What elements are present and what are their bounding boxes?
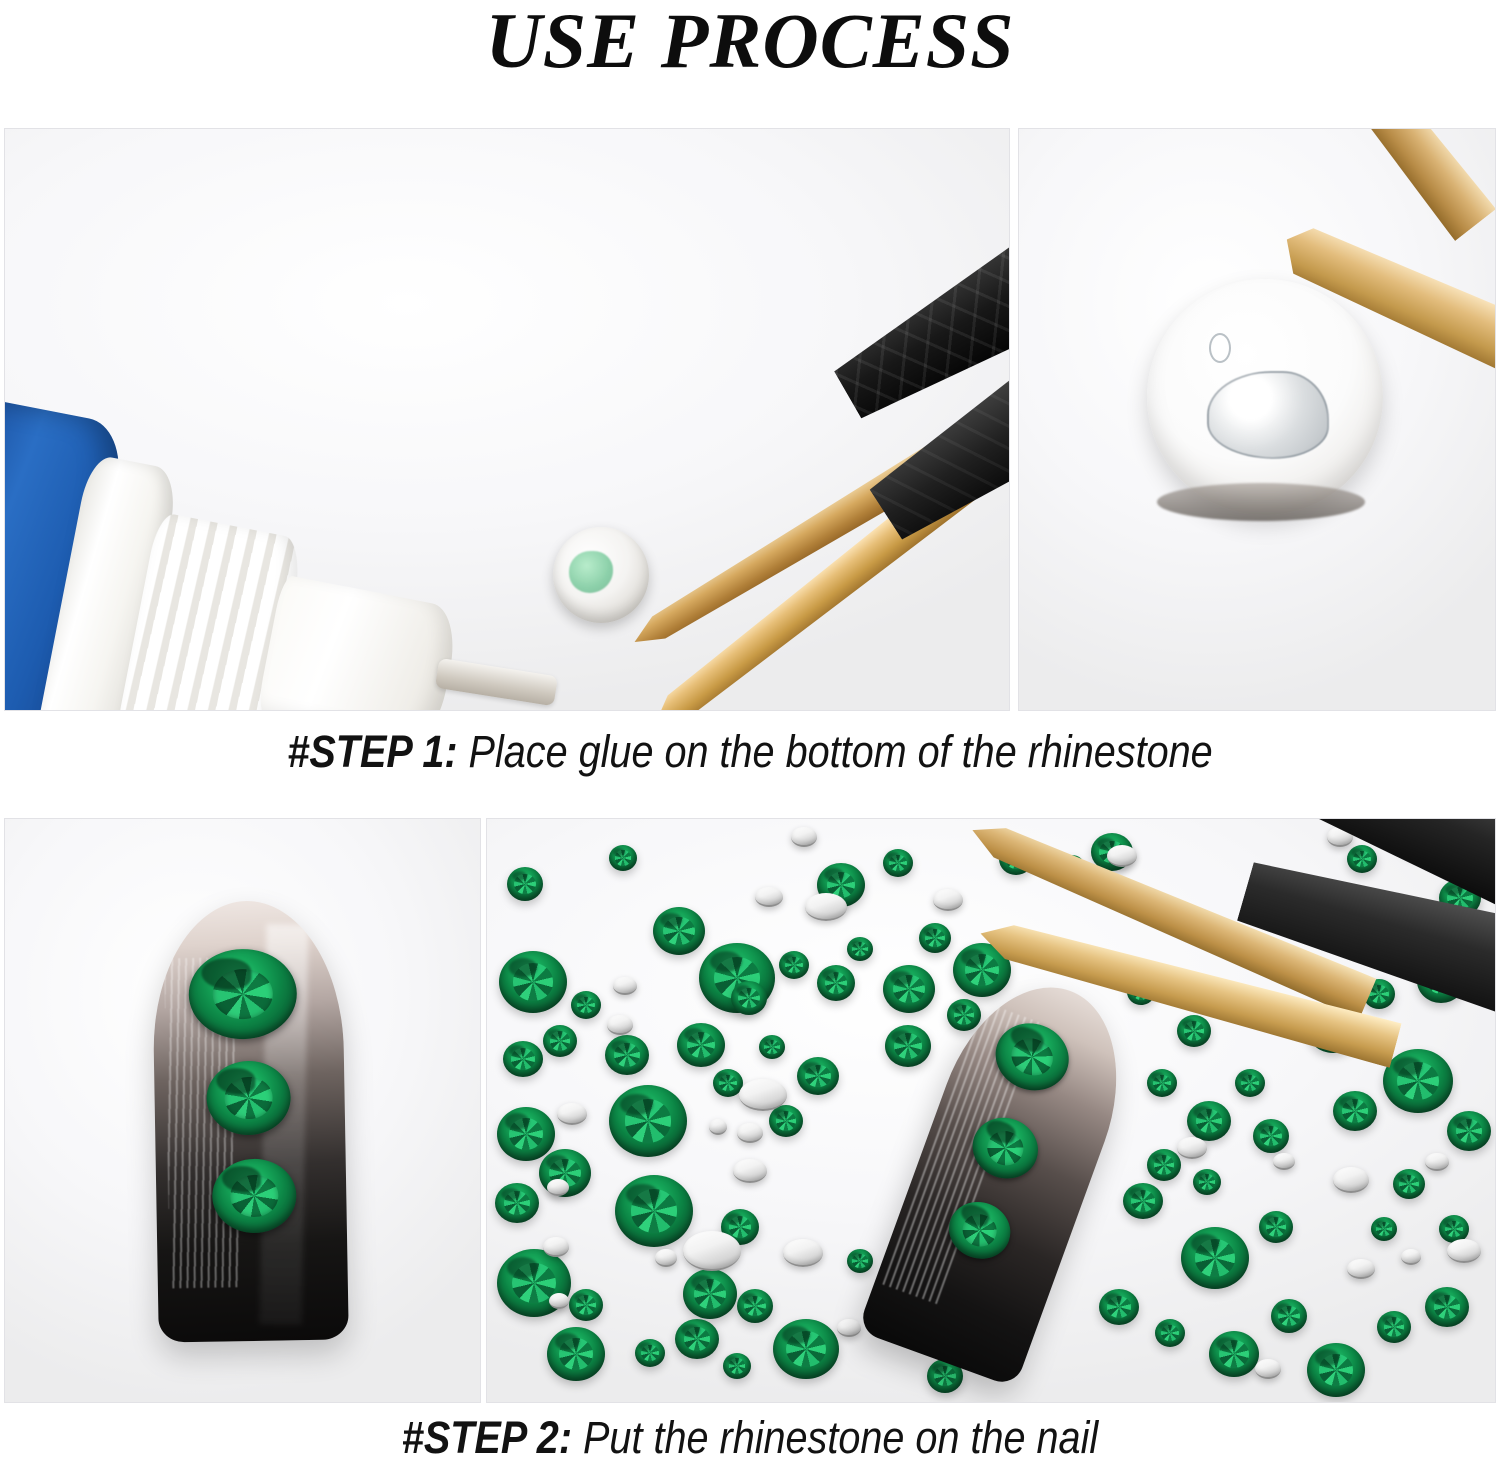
loose-rhinestone	[883, 965, 935, 1013]
loose-rhinestone	[1377, 1311, 1411, 1343]
step-1-text: Place glue on the bottom of the rhinesto…	[458, 726, 1213, 777]
loose-rhinestone	[797, 1057, 839, 1095]
flat-back-stone	[739, 1079, 787, 1111]
flat-back-stone	[547, 1179, 569, 1196]
flat-back-stone	[1255, 1359, 1281, 1379]
loose-rhinestone	[605, 1035, 649, 1075]
flat-back-stone	[805, 893, 847, 921]
loose-rhinestone	[653, 907, 705, 955]
flat-back-stone	[557, 1103, 587, 1125]
glue-drop	[569, 551, 613, 593]
loose-rhinestone	[609, 845, 637, 871]
step-2-text: Put the rhinestone on the nail	[572, 1412, 1098, 1463]
step-1-panel-row	[4, 128, 1496, 711]
loose-rhinestone	[1383, 1049, 1453, 1113]
flat-back-stone	[543, 1237, 569, 1257]
glue-bubble	[1209, 333, 1231, 363]
loose-rhinestone	[543, 1025, 577, 1057]
flat-back-stone	[709, 1119, 727, 1135]
loose-rhinestone	[675, 1319, 719, 1359]
loose-rhinestone	[883, 849, 913, 877]
loose-rhinestone	[497, 1107, 555, 1161]
loose-rhinestone	[495, 1183, 539, 1223]
nail-rhinestone-small	[941, 1193, 1018, 1267]
nail-rhinestone-medium	[206, 1060, 291, 1135]
loose-rhinestone	[615, 1175, 693, 1247]
loose-rhinestone	[635, 1339, 665, 1367]
panel-gutter	[1010, 128, 1018, 711]
flat-back-stone	[613, 977, 637, 995]
page-title: USE PROCESS	[0, 0, 1500, 110]
loose-rhinestone	[773, 1319, 839, 1379]
loose-rhinestone	[1147, 1149, 1181, 1181]
rhinestone-silver-back	[553, 527, 649, 623]
loose-rhinestone	[919, 923, 951, 953]
loose-rhinestone	[1123, 1183, 1163, 1219]
loose-rhinestone	[1371, 1217, 1397, 1241]
loose-rhinestone	[547, 1327, 605, 1381]
loose-rhinestone	[769, 1105, 803, 1137]
loose-rhinestone	[1307, 1343, 1365, 1397]
step-2-caption: #STEP 2: Put the rhinestone on the nail	[90, 1412, 1410, 1464]
loose-rhinestone	[1187, 1101, 1231, 1141]
flat-back-stone	[1347, 1259, 1375, 1279]
step-1-label: #STEP 1:	[287, 726, 457, 777]
flat-back-stone	[1107, 845, 1137, 867]
flat-back-stone	[683, 1231, 741, 1271]
loose-rhinestone	[759, 1035, 785, 1059]
loose-rhinestone	[1393, 1169, 1425, 1199]
loose-rhinestone	[737, 1289, 773, 1323]
loose-rhinestone	[723, 1353, 751, 1379]
loose-rhinestone	[569, 1289, 603, 1321]
loose-rhinestone	[779, 951, 809, 979]
panel-glue-bottle	[4, 128, 1010, 711]
loose-rhinestone	[1447, 1111, 1491, 1151]
loose-rhinestone	[1193, 1169, 1221, 1195]
panel-stone-closeup	[1018, 128, 1496, 711]
rhinestone-flat-back-macro	[1147, 279, 1383, 515]
loose-rhinestone	[817, 965, 855, 1001]
flat-back-stone	[607, 1015, 633, 1035]
loose-rhinestone	[1147, 1069, 1177, 1097]
decorated-nail	[151, 899, 349, 1342]
step-2-label: #STEP 2:	[402, 1412, 572, 1463]
flat-back-stone	[837, 1319, 861, 1337]
step-2-panel-row	[4, 818, 1496, 1403]
flat-back-stone	[655, 1249, 677, 1267]
loose-rhinestone	[1099, 1289, 1139, 1325]
loose-rhinestone	[1177, 1015, 1211, 1047]
flat-back-stone	[791, 827, 817, 847]
loose-rhinestone	[1347, 845, 1377, 873]
loose-rhinestone	[1235, 1069, 1265, 1097]
loose-rhinestone	[499, 951, 567, 1013]
nail-rhinestone-large	[986, 1013, 1078, 1100]
flat-back-stone	[733, 1159, 767, 1183]
flat-back-stone	[1447, 1239, 1481, 1263]
loose-rhinestone	[885, 1025, 931, 1067]
flat-back-stone	[1401, 1249, 1421, 1265]
loose-rhinestone	[1271, 1299, 1307, 1333]
flat-back-stone	[1425, 1153, 1449, 1171]
nail-rhinestone-medium	[964, 1109, 1047, 1188]
loose-rhinestone	[677, 1023, 725, 1067]
step-1-caption: #STEP 1: Place glue on the bottom of the…	[90, 726, 1410, 778]
flat-back-stone	[737, 1123, 763, 1143]
nail-rhinestone-large	[188, 948, 298, 1040]
loose-rhinestone	[1253, 1119, 1289, 1153]
flat-back-stone	[755, 887, 783, 907]
flat-back-stone	[783, 1239, 823, 1267]
panel-scattered-stones	[486, 818, 1496, 1403]
panel-finished-nail	[4, 818, 481, 1403]
loose-rhinestone	[1259, 1211, 1293, 1243]
loose-rhinestone	[683, 1269, 737, 1319]
loose-rhinestone	[847, 937, 873, 961]
flat-back-stone	[1273, 1153, 1295, 1170]
flat-back-stone	[1333, 1167, 1369, 1193]
loose-rhinestone	[1155, 1319, 1185, 1347]
loose-rhinestone	[731, 981, 767, 1015]
nail-rhinestone-small	[212, 1158, 297, 1233]
loose-rhinestone	[1333, 1091, 1377, 1131]
flat-back-stone	[1177, 1137, 1207, 1159]
loose-rhinestone	[1181, 1227, 1249, 1289]
loose-rhinestone	[1209, 1331, 1259, 1377]
glue-blob-macro	[1207, 371, 1329, 459]
loose-rhinestone	[503, 1041, 543, 1077]
page-title-text: USE PROCESS	[485, 2, 1014, 80]
loose-rhinestone	[571, 991, 601, 1019]
loose-rhinestone	[507, 867, 543, 901]
flat-back-stone	[933, 889, 963, 911]
loose-rhinestone	[847, 1249, 873, 1273]
flat-back-stone	[549, 1293, 569, 1309]
loose-rhinestone	[609, 1085, 687, 1157]
loose-rhinestone	[1425, 1287, 1469, 1327]
